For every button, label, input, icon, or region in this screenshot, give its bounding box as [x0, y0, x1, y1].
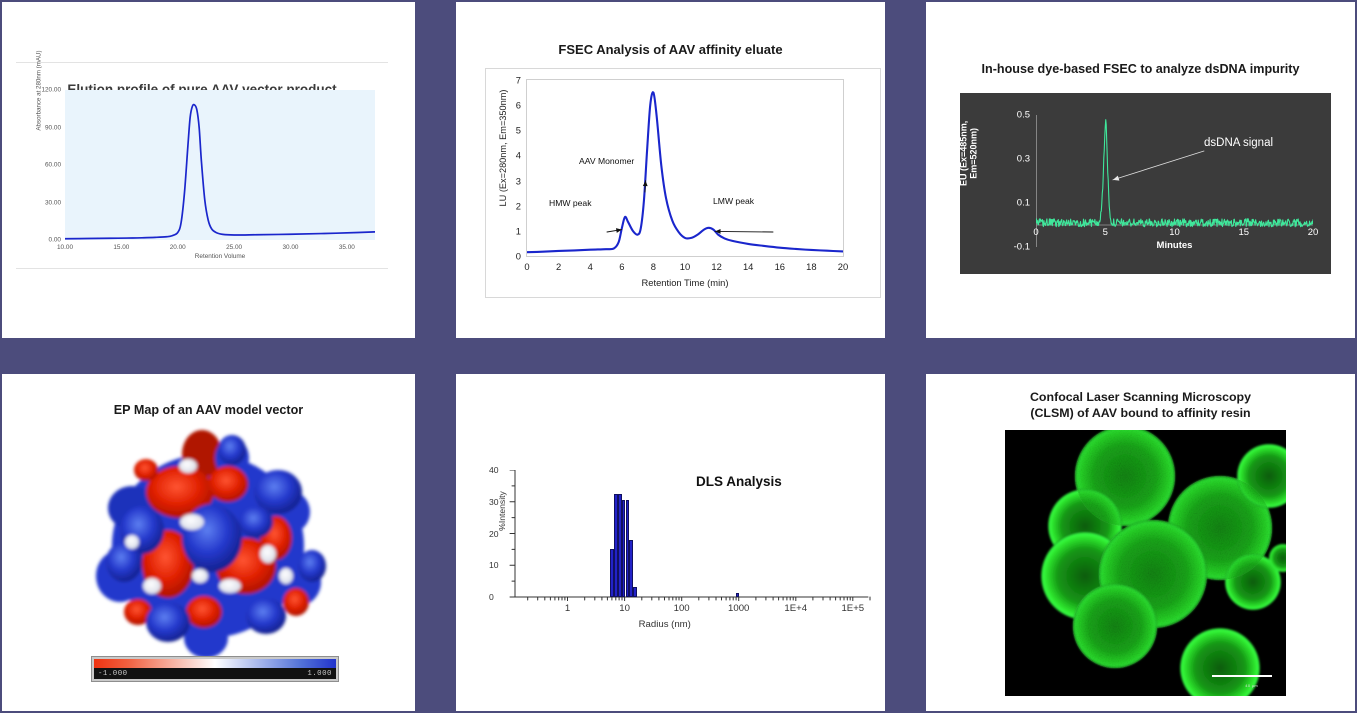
axis-tick-label: 0	[1033, 227, 1038, 238]
axis-tick-label: 30.00	[282, 244, 298, 251]
axis-tick-label: 0.5	[1017, 110, 1030, 121]
axis-tick-label: 30.00	[45, 199, 61, 206]
axis-tick-label: 10.00	[57, 244, 73, 251]
axis-tick-label: 16	[775, 261, 785, 272]
panel-fsec-analysis: FSEC Analysis of AAV affinity eluate 012…	[456, 2, 885, 338]
axis-tick-label: 5	[1103, 227, 1108, 238]
axis-tick-label: 0.3	[1017, 154, 1030, 165]
axis-tick-label: 120.00	[41, 87, 61, 94]
axis-tick-label: 20	[489, 529, 499, 539]
axis-tick-label: 90.00	[45, 124, 61, 131]
elution-plot-area: 0.0030.0060.0090.00120.0010.0015.0020.00…	[65, 90, 375, 240]
dls-bar	[736, 593, 740, 597]
axis-tick-label: 12	[711, 261, 721, 272]
elution-x-axis-label: Retention Volume	[195, 253, 245, 260]
fsec-chart-frame: 0123456702468101214161820Retention Time …	[485, 68, 881, 298]
axis-tick-label: 2	[556, 261, 561, 272]
epmap-colorbar-labels: -1.000 1.000	[94, 668, 336, 679]
axis-tick-label: 15	[1238, 227, 1249, 238]
fsec-annotation: LMW peak	[713, 196, 754, 206]
axis-tick-label: 0	[489, 592, 494, 602]
dsdna-chart-title: In-house dye-based FSEC to analyze dsDNA…	[926, 62, 1355, 78]
clsm-scale-bar-label: 40 µm	[1245, 683, 1258, 688]
axis-tick-label: 1E+4	[784, 603, 807, 614]
fsec-chart-title: FSEC Analysis of AAV affinity eluate	[456, 42, 885, 58]
axis-tick-label: 1	[516, 225, 521, 236]
axis-tick-label: 10	[619, 603, 630, 614]
epmap-surface-image	[80, 426, 338, 656]
dls-plot-area: %Intensity 01020304011010010001E+41E+5Ra…	[505, 470, 860, 597]
axis-tick-label: 15.00	[113, 244, 129, 251]
dls-bar	[633, 587, 637, 597]
axis-tick-label: 10	[680, 261, 690, 272]
clsm-scale-bar	[1212, 675, 1272, 677]
epmap-colorbar-min: -1.000	[98, 670, 128, 678]
elution-chart-card: Elution profile of pure AAV vector produ…	[16, 62, 388, 269]
axis-tick-label: 1E+5	[841, 603, 864, 614]
axis-tick-label: 4	[588, 261, 593, 272]
dsdna-chart-canvas: -0.10.10.30.505101520MinutesdsDNA signal…	[960, 93, 1331, 274]
axis-tick-label: 35.00	[339, 244, 355, 251]
axis-tick-label: 6	[516, 100, 521, 111]
fsec-plot-area: 0123456702468101214161820Retention Time …	[526, 79, 844, 257]
axis-tick-label: -0.1	[1014, 242, 1030, 253]
axis-tick-label: 14	[743, 261, 753, 272]
fsec-y-axis-label: LU (Ex=280nm, Em=350nm)	[498, 43, 508, 253]
chart-trace	[65, 90, 375, 240]
clsm-title: Confocal Laser Scanning Microscopy (CLSM…	[926, 390, 1355, 421]
clsm-image: 40 µm	[1005, 430, 1286, 696]
axis-tick-label: 1	[565, 603, 570, 614]
axis-tick-label: 20	[1308, 227, 1319, 238]
axis-tick-label: 3	[516, 175, 521, 186]
clsm-title-line2: (CLSM) of AAV bound to affinity resin	[1030, 406, 1250, 420]
dsdna-annotation: dsDNA signal	[1204, 137, 1273, 149]
axis-tick-label: 5	[516, 125, 521, 136]
axis-tick-label: 0	[516, 251, 521, 262]
epmap-title: EP Map of an AAV model vector	[2, 403, 415, 419]
dsdna-y-axis-label: EU (Ex=485nm,Em=520nm)	[959, 97, 980, 209]
axis-tick-label: 20	[838, 261, 848, 272]
chart-trace	[527, 80, 843, 256]
panel-elution-profile: Elution profile of pure AAV vector produ…	[2, 2, 415, 338]
dls-x-axis-label: Radius (nm)	[639, 619, 691, 630]
axis-tick-label: 60.00	[45, 162, 61, 169]
axis-tick-label: 8	[651, 261, 656, 272]
axis-tick-label: 25.00	[226, 244, 242, 251]
axis-tick-label: 10	[489, 560, 499, 570]
epmap-colorbar-max: 1.000	[307, 670, 332, 678]
chart-trace	[505, 470, 872, 601]
axis-tick-label: 2	[516, 200, 521, 211]
axis-tick-label: 6	[619, 261, 624, 272]
panel-ep-map: EP Map of an AAV model vector	[2, 374, 415, 711]
axis-tick-label: 0.1	[1017, 198, 1030, 209]
fsec-annotation: AAV Monomer	[579, 156, 634, 166]
dsdna-x-axis-label: Minutes	[1157, 240, 1193, 251]
axis-tick-label: 20.00	[170, 244, 186, 251]
fsec-annotation: HMW peak	[549, 198, 592, 208]
dsdna-plot-area: -0.10.10.30.505101520MinutesdsDNA signal	[1036, 115, 1313, 247]
epmap-colorbar-gradient	[94, 659, 336, 668]
axis-tick-label: 0	[524, 261, 529, 272]
axis-tick-label: 10	[1169, 227, 1180, 238]
axis-tick-label: 0.00	[49, 237, 61, 244]
axis-tick-label: 1000	[728, 603, 749, 614]
elution-y-axis-label: Absorbance at 280nm (mAU)	[36, 26, 43, 156]
axis-tick-label: 4	[516, 150, 521, 161]
epmap-colorbar: -1.000 1.000	[91, 656, 339, 682]
axis-tick-label: 40	[489, 465, 499, 475]
clsm-svg	[1005, 430, 1286, 696]
fsec-x-axis-label: Retention Time (min)	[641, 277, 728, 288]
axis-tick-label: 18	[806, 261, 816, 272]
epmap-svg	[80, 426, 338, 656]
panel-grid: Elution profile of pure AAV vector produ…	[0, 0, 1357, 713]
axis-tick-label: 100	[674, 603, 690, 614]
panel-dsdna-fsec: In-house dye-based FSEC to analyze dsDNA…	[926, 2, 1355, 338]
axis-tick-label: 30	[489, 497, 499, 507]
axis-tick-label: 7	[516, 75, 521, 86]
clsm-title-line1: Confocal Laser Scanning Microscopy	[1030, 390, 1251, 404]
panel-clsm: Confocal Laser Scanning Microscopy (CLSM…	[926, 374, 1355, 711]
